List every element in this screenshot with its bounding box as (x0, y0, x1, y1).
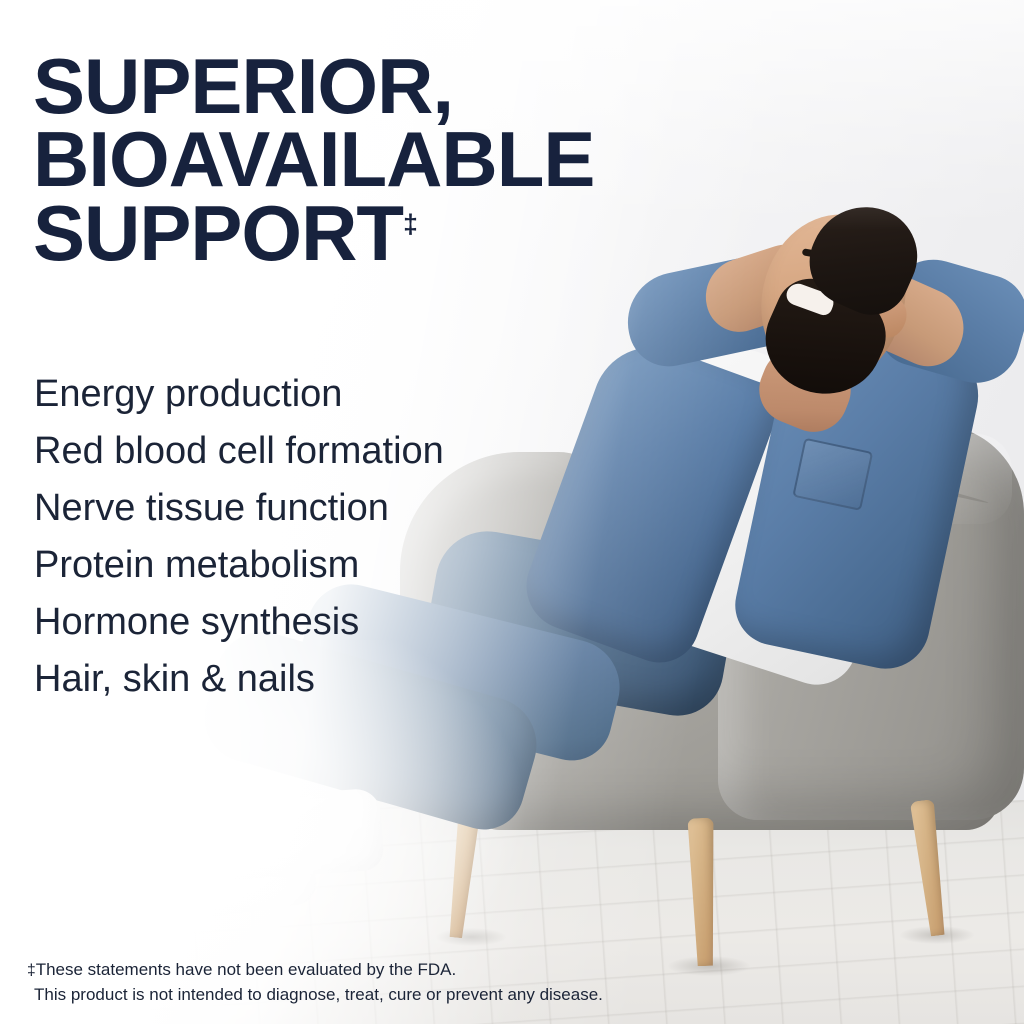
disclaimer-line-2: This product is not intended to diagnose… (27, 982, 603, 1007)
headline-line-3: SUPPORT‡ (33, 197, 893, 270)
list-item: Red blood cell formation (34, 423, 444, 480)
list-item: Hormone synthesis (34, 594, 444, 651)
headline-line-3-text: SUPPORT (33, 189, 403, 277)
poster-canvas: SUPERIOR, BIOAVAILABLE SUPPORT‡ Energy p… (0, 0, 1024, 1024)
text-content-layer: SUPERIOR, BIOAVAILABLE SUPPORT‡ Energy p… (0, 0, 1024, 1024)
double-dagger-icon: ‡ (403, 209, 418, 239)
benefits-list: Energy production Red blood cell formati… (34, 366, 444, 708)
headline-line-1: SUPERIOR, (33, 50, 893, 123)
list-item: Energy production (34, 366, 444, 423)
list-item: Protein metabolism (34, 537, 444, 594)
double-dagger-icon: ‡ (27, 962, 36, 979)
headline-line-2: BIOAVAILABLE (33, 123, 893, 196)
list-item: Hair, skin & nails (34, 651, 444, 708)
disclaimer-line-1-text: These statements have not been evaluated… (36, 960, 457, 979)
list-item: Nerve tissue function (34, 480, 444, 537)
page-title: SUPERIOR, BIOAVAILABLE SUPPORT‡ (33, 50, 893, 270)
disclaimer-line-1: ‡These statements have not been evaluate… (27, 960, 456, 979)
fda-disclaimer: ‡These statements have not been evaluate… (27, 957, 603, 1007)
